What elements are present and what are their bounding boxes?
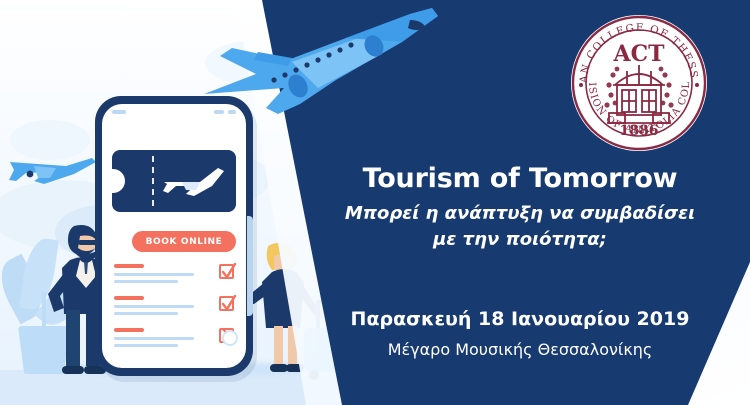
selection-circle[interactable] [222,330,238,346]
event-date: Παρασκευή 18 Ιανουαρίου 2019 [330,308,710,330]
page-title: Tourism of Tomorrow [330,164,710,194]
checklist-row [114,328,234,360]
subtitle-line-1: Μπορεί η ανάπτυξη να συμβαδίσει [330,201,710,227]
checkbox-checked[interactable] [219,296,234,311]
seal-acronym: ACT [613,41,666,67]
subtitle-line-2: με την ποιότητα; [330,227,710,253]
row-text-bar [114,305,194,308]
headline-block: Tourism of Tomorrow Μπορεί η ανάπτυξη να… [330,164,710,253]
row-heading-bar [114,328,144,332]
airplane-icon [160,160,230,202]
checklist [114,264,234,360]
smartphone-mockup: Ticket BOOK ONLINE [95,96,253,376]
phone-screen: Ticket BOOK ONLINE [102,104,246,368]
airplane-large-icon [196,2,466,134]
checkbox-checked[interactable] [219,264,234,279]
act-seal-logo: AMERICAN COLLEGE OF THESSALONIKI A DIVIS… [569,13,709,153]
ticket-card: Ticket [112,150,236,212]
event-venue: Μέγαρο Μουσικής Θεσσαλονίκης [330,340,710,359]
row-heading-bar [114,296,144,300]
row-text-bar [114,273,194,276]
checklist-row [114,264,234,296]
row-text-bar [114,280,178,283]
ticket-label: Ticket [102,162,106,224]
row-text-bar [114,344,178,347]
row-text-bar [114,337,194,340]
seal-year: 1886 [620,123,659,139]
ticket-notch [111,169,125,193]
row-heading-bar [114,264,144,268]
airplane-small-icon [4,140,100,198]
phone-side-button[interactable] [247,216,253,316]
book-online-button[interactable]: BOOK ONLINE [132,231,236,252]
row-text-bar [114,312,178,315]
event-banner: Ticket BOOK ONLINE [0,0,750,405]
ticket-perforation [152,156,154,206]
checklist-row [114,296,234,328]
